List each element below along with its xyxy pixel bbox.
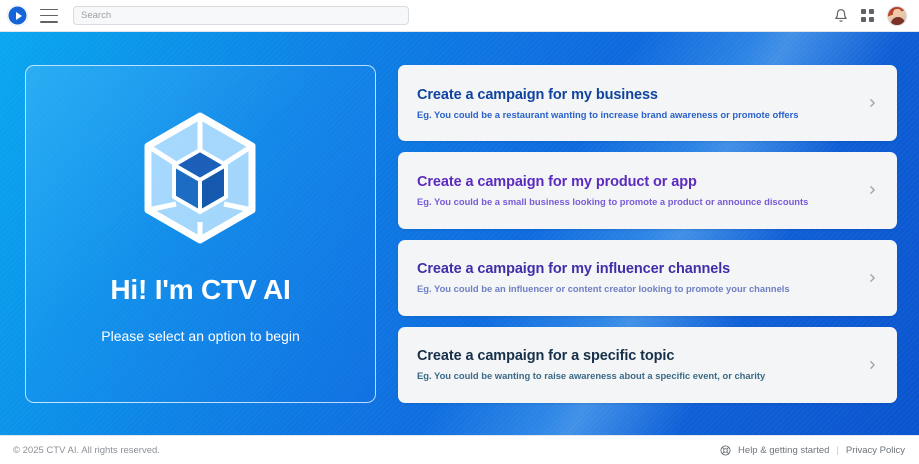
privacy-policy-link[interactable]: Privacy Policy <box>846 445 905 456</box>
bell-icon[interactable] <box>834 8 848 23</box>
copyright-text: © 2025 CTV AI. All rights reserved. <box>13 445 160 456</box>
grid-apps-icon[interactable] <box>861 9 874 22</box>
chevron-right-icon[interactable] <box>866 355 879 375</box>
campaign-option-product-app[interactable]: Create a campaign for my product or app … <box>398 152 897 228</box>
card-title: Create a campaign for my product or app <box>417 174 854 190</box>
search-input[interactable] <box>81 10 401 21</box>
chevron-right-icon[interactable] <box>866 268 879 288</box>
footer-separator: | <box>836 445 838 456</box>
search-input-wrapper[interactable] <box>73 6 409 25</box>
chevron-right-icon[interactable] <box>866 93 879 113</box>
card-description: Eg. You could be an influencer or conten… <box>417 283 854 294</box>
hero-panel: Hi! I'm CTV AI Please select an option t… <box>25 65 376 403</box>
footer-links: Help & getting started | Privacy Policy <box>720 445 905 456</box>
card-description: Eg. You could be a small business lookin… <box>417 196 854 207</box>
main-content: Hi! I'm CTV AI Please select an option t… <box>0 32 919 435</box>
lifebuoy-help-icon[interactable] <box>720 445 731 456</box>
app-header <box>0 0 919 32</box>
app-root: Hi! I'm CTV AI Please select an option t… <box>0 0 919 464</box>
card-title: Create a campaign for a specific topic <box>417 348 854 364</box>
app-footer: © 2025 CTV AI. All rights reserved. Help… <box>0 435 919 464</box>
campaign-options-list: Create a campaign for my business Eg. Yo… <box>398 65 897 403</box>
card-title: Create a campaign for my influencer chan… <box>417 261 854 277</box>
card-description: Eg. You could be wanting to raise awaren… <box>417 370 854 381</box>
user-avatar[interactable] <box>887 6 907 26</box>
campaign-option-specific-topic[interactable]: Create a campaign for a specific topic E… <box>398 327 897 403</box>
card-description: Eg. You could be a restaurant wanting to… <box>417 109 854 120</box>
play-circle-icon[interactable] <box>7 5 28 26</box>
header-icon-group <box>834 6 911 26</box>
hero-subtitle: Please select an option to begin <box>101 328 299 344</box>
hamburger-menu-icon[interactable] <box>40 9 58 23</box>
cube-hexagon-logo <box>134 112 266 244</box>
campaign-option-influencer[interactable]: Create a campaign for my influencer chan… <box>398 240 897 316</box>
help-getting-started-link[interactable]: Help & getting started <box>738 445 829 456</box>
card-title: Create a campaign for my business <box>417 87 854 103</box>
hero-title: Hi! I'm CTV AI <box>110 274 290 306</box>
chevron-right-icon[interactable] <box>866 180 879 200</box>
campaign-option-business[interactable]: Create a campaign for my business Eg. Yo… <box>398 65 897 141</box>
